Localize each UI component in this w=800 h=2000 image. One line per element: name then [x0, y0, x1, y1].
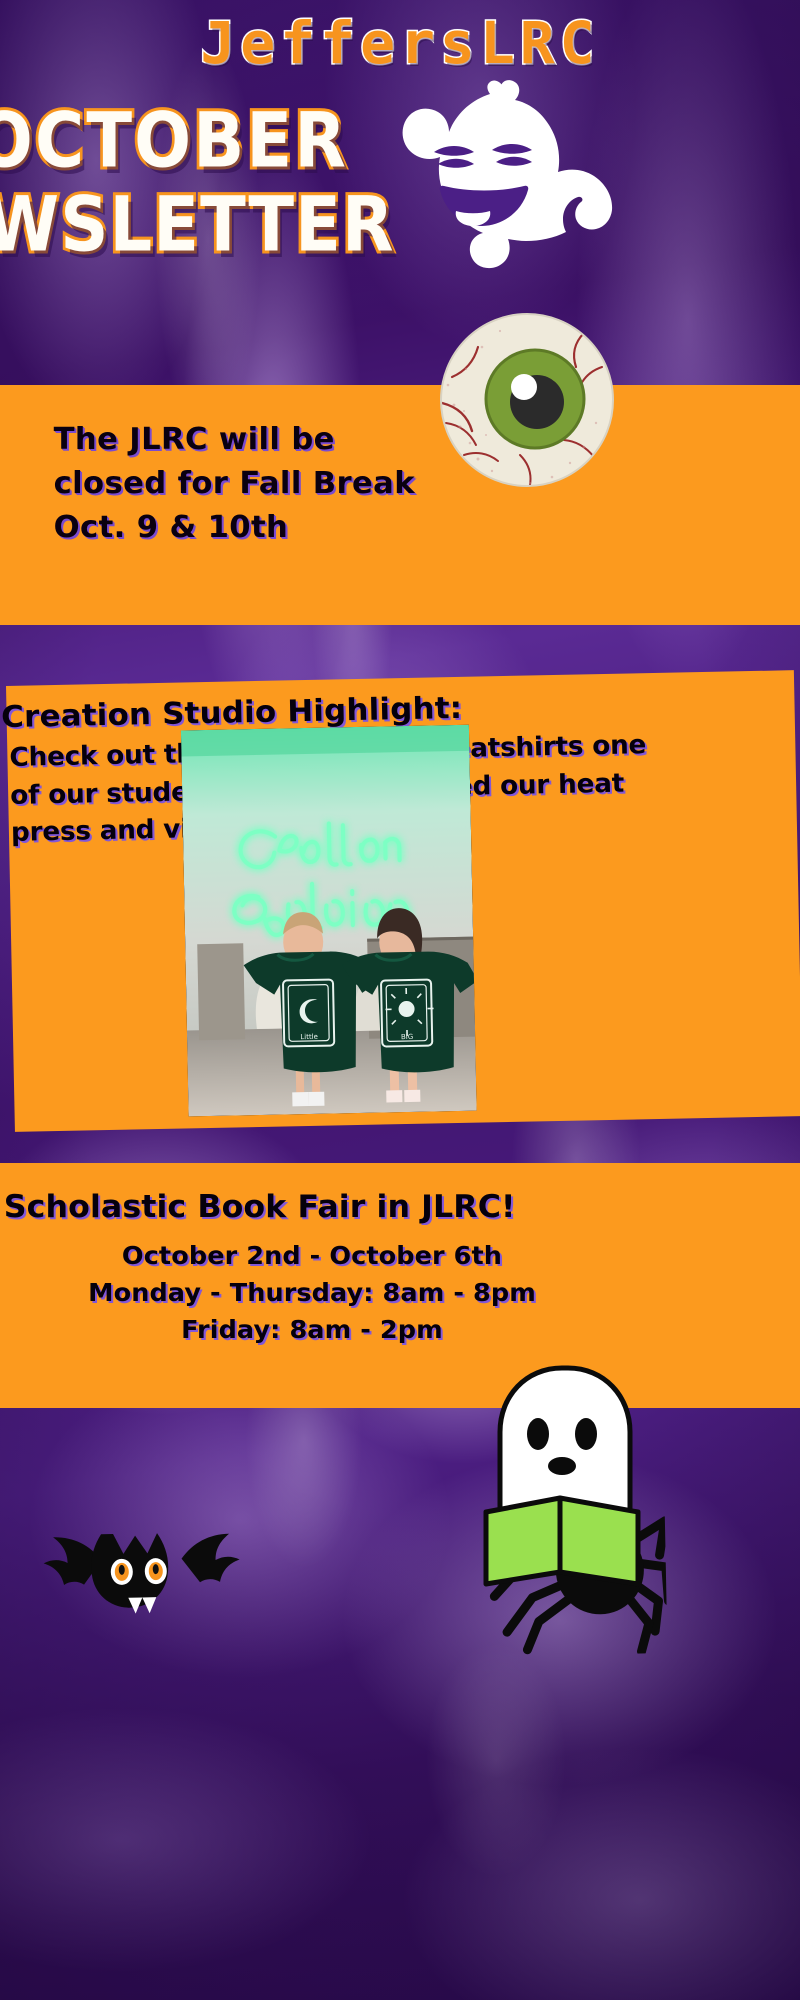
- brand-title: JeffersLRC: [0, 14, 800, 72]
- ghost-reading-icon: [452, 1360, 672, 1590]
- title-block: JeffersLRC OCTOBER NEWSLETTER: [0, 0, 800, 385]
- svg-text:Little: Little: [300, 1033, 318, 1041]
- book-fair-schedule: October 2nd - October 6th Monday - Thurs…: [47, 1237, 577, 1348]
- eyeball-icon: [434, 307, 620, 493]
- creation-studio-photo: Little BIG: [181, 725, 477, 1117]
- fair-line-1: October 2nd - October 6th: [47, 1237, 577, 1274]
- fair-line-3: Friday: 8am - 2pm: [47, 1311, 577, 1348]
- closure-notice-band: The JLRC will be closed for Fall Break O…: [0, 385, 800, 625]
- bat-icon: [41, 1509, 244, 1643]
- ghost-icon: [352, 78, 622, 293]
- creation-studio-panel: Creation Studio Highlight: Check out the…: [6, 670, 800, 1132]
- newsletter-poster: JeffersLRC OCTOBER NEWSLETTER: [0, 0, 800, 2000]
- book-fair-heading: Scholastic Book Fair in JLRC!: [4, 1189, 636, 1225]
- fair-line-2: Monday - Thursday: 8am - 8pm: [47, 1274, 577, 1311]
- svg-text:BIG: BIG: [401, 1033, 413, 1041]
- book-fair-band: Scholastic Book Fair in JLRC! October 2n…: [0, 1163, 800, 1408]
- closure-line-3: Oct. 9 & 10th: [54, 506, 503, 550]
